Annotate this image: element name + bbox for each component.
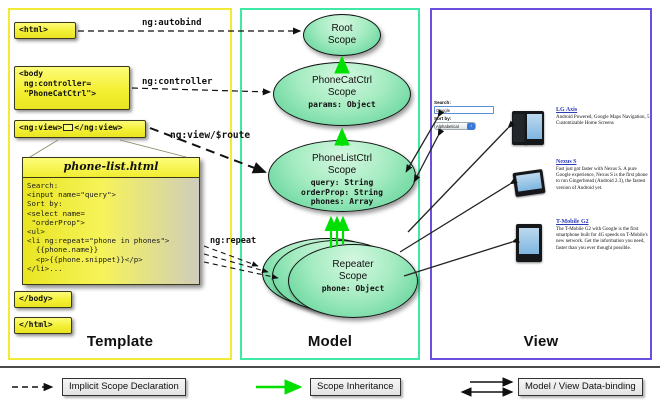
scope-root-name: Root Scope <box>304 23 380 46</box>
column-label-model: Model <box>240 333 420 350</box>
ngview-open-label: <ng:view> <box>19 123 62 132</box>
edge-label-repeat: ng:repeat <box>210 236 256 246</box>
chevron-down-icon[interactable]: ↕ <box>467 123 475 130</box>
listing-title-link[interactable]: LG Axis <box>556 107 652 113</box>
template-code-callout: phone-list.html Search: <input name="que… <box>22 157 200 285</box>
listing-item: T-Mobile G2 The T-Mobile G2 with Google … <box>556 219 652 252</box>
column-label-template: Template <box>8 333 232 350</box>
scope-phonelistctrl-props: query: String orderProp: String phones: … <box>269 178 415 207</box>
scope-repeater-front: Repeater Scope phone: Object <box>288 244 418 318</box>
sort-select-value: Alphabetical <box>436 124 459 129</box>
scope-phonecatctrl: PhoneCatCtrl Scope params: Object <box>273 62 411 126</box>
column-label-view: View <box>430 333 652 350</box>
listing-snippet: Android Powered, Google Maps Navigation,… <box>556 115 652 127</box>
scope-phonecatctrl-props: params: Object <box>274 100 410 110</box>
listing-title-link[interactable]: Nexus S <box>556 159 652 165</box>
listing-title-link[interactable]: T-Mobile G2 <box>556 219 652 225</box>
view-search-form: Search: Google Sort by: Alphabetical ↕ <box>434 100 496 130</box>
phone-thumb-nexus-s <box>514 168 544 196</box>
listing-item: Nexus S Fast just got faster with Nexus … <box>556 159 652 192</box>
scope-phonelistctrl: PhoneListCtrl Scope query: String orderP… <box>268 140 416 212</box>
listing-snippet: Fast just got faster with Nexus S. A pur… <box>556 167 652 192</box>
scope-root: Root Scope <box>303 14 381 56</box>
search-input[interactable]: Google <box>434 106 494 114</box>
scope-repeater-name: Repeater Scope <box>289 259 417 282</box>
edge-label-view-route: ng:view/$route <box>170 130 250 141</box>
scope-phonelistctrl-name: PhoneListCtrl Scope <box>269 153 415 176</box>
scope-repeater-stack: Repeater Scope phone: Object <box>262 234 418 320</box>
tag-body: <body ng:controller= "PhoneCatCtrl"> <box>14 66 130 110</box>
tag-html-close: </html> <box>14 317 72 334</box>
tag-ngview: <ng:view></ng:view> <box>14 120 146 138</box>
phone-thumb-t-mobile-g2 <box>516 224 542 262</box>
ngview-placeholder-icon <box>63 124 73 131</box>
tag-html: <html> <box>14 22 76 39</box>
scope-repeater-props: phone: Object <box>289 284 417 294</box>
ngview-close-label: </ng:view> <box>74 123 122 132</box>
legend-bar: Implicit Scope Declaration Scope Inherit… <box>0 366 660 407</box>
legend-label-implicit: Implicit Scope Declaration <box>62 378 186 396</box>
listing-snippet: The T-Mobile G2 with Google is the first… <box>556 227 652 252</box>
edge-label-autobind: ng:autobind <box>142 18 202 28</box>
phone-thumb-lg-axis <box>512 111 544 145</box>
tag-body-close: </body> <box>14 291 72 308</box>
callout-code: Search: <input name="query"> Sort by: <s… <box>22 177 200 285</box>
diagram-canvas: <html> <body ng:controller= "PhoneCatCtr… <box>0 0 660 405</box>
sort-select[interactable]: Alphabetical ↕ <box>434 122 476 130</box>
legend-label-inheritance: Scope Inheritance <box>310 378 401 396</box>
legend-label-databinding: Model / View Data-binding <box>518 378 643 396</box>
callout-title: phone-list.html <box>22 157 200 177</box>
edge-label-controller: ng:controller <box>142 77 212 87</box>
listing-item: LG Axis Android Powered, Google Maps Nav… <box>556 107 652 127</box>
scope-phonecatctrl-name: PhoneCatCtrl Scope <box>274 75 410 98</box>
